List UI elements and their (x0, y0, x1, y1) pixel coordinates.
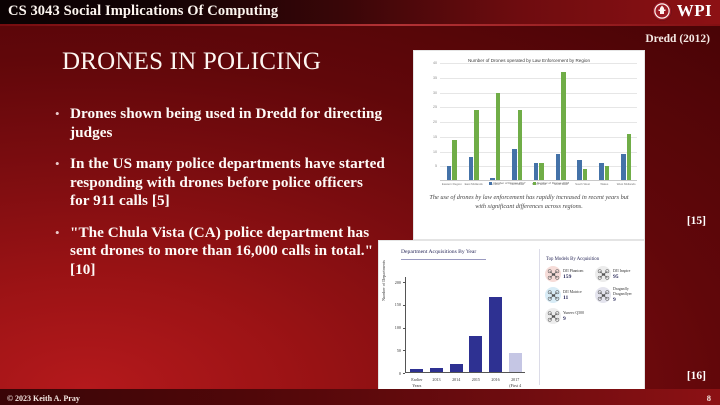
chart1-bar (599, 163, 604, 181)
chart1-bar-group (621, 63, 631, 181)
top-model-count: 9 (613, 297, 645, 303)
chart1-y-tick-label: 40 (417, 61, 437, 65)
chart1-y-tick-label: 20 (417, 120, 437, 124)
bullet-text: "The Chula Vista (CA) police department … (70, 224, 385, 280)
chart2-y-axis (405, 277, 406, 373)
top-model-item: DJI Inspire95 (595, 266, 645, 282)
bullet-text: In the US many police departments have s… (70, 155, 385, 211)
chart2-bar (469, 336, 482, 372)
top-model-text: Yuneec Q5009 (563, 311, 584, 322)
top-model-count: 11 (563, 295, 582, 301)
top-model-count: 9 (563, 316, 584, 322)
top-model-text: DJI Phantom159 (563, 269, 583, 280)
course-title: CS 3043 Social Implications Of Computing (8, 3, 278, 20)
chart1-bar-group (577, 63, 587, 181)
bullet-marker-icon: • (55, 155, 62, 211)
chart2-side-panel: Top Models By Acquisition DJI Phantom159… (542, 241, 644, 393)
copyright-text: © 2023 Keith A. Pray (7, 394, 80, 403)
chart1-bar (577, 160, 582, 181)
reference-marker-15: [15] (687, 215, 706, 227)
legend-label: Number of Drones 2017 (493, 181, 525, 185)
top-model-name: Yuneec Q500 (563, 311, 584, 316)
chart1-bar-group (447, 63, 457, 181)
chart1-bar-group (599, 63, 609, 181)
drone-icon (545, 266, 561, 282)
footer-bar (0, 389, 720, 405)
chart2-y-tick-label: 100 (387, 325, 401, 330)
chart1-bar-group (469, 63, 479, 181)
top-model-text: Draganfly Draganflyer9 (613, 287, 645, 303)
chart1-plot: Eastern RegionEast MidlandsLondonNorth E… (414, 63, 644, 181)
chart1-bar (512, 149, 517, 181)
chart2-bars (407, 281, 525, 372)
banner-underline (0, 24, 720, 26)
chart1-bar (627, 134, 632, 181)
chart1-bar (518, 110, 523, 181)
chart1-bar (556, 154, 561, 181)
wpi-seal-icon (652, 1, 672, 21)
bullet-marker-icon: • (55, 224, 62, 280)
top-model-text: DJI Matrice11 (563, 290, 582, 301)
bullet-marker-icon: • (55, 105, 62, 142)
chart2-y-tick-label: 0 (387, 371, 401, 376)
chart1-bar (561, 72, 566, 181)
chart1-bar (452, 140, 457, 181)
chart2-y-tick (403, 328, 405, 329)
top-model-name: DJI Matrice (563, 290, 582, 295)
chart2-bar (430, 368, 443, 372)
drone-icon (595, 266, 611, 282)
drone-icon (545, 308, 561, 324)
chart1-bar-group (512, 63, 522, 181)
chart2-y-tick (403, 350, 405, 351)
chart2-y-axis-label: Number of Departments (381, 260, 386, 301)
legend-swatch (533, 182, 536, 185)
drone-icon (545, 287, 561, 303)
list-item: • Drones shown being used in Dredd for d… (55, 105, 385, 142)
chart1-caption: The use of drones by law enforcement has… (424, 193, 634, 211)
list-item: • "The Chula Vista (CA) police departmen… (55, 224, 385, 280)
chart1-bar (605, 166, 610, 181)
chart2-y-tick-label: 150 (387, 302, 401, 307)
chart2-bar (450, 364, 463, 372)
chart1-y-tick-label: 35 (417, 76, 437, 80)
bullet-text: Drones shown being used in Dredd for dir… (70, 105, 385, 142)
drone-icon (595, 287, 611, 303)
chart1-bar-group (556, 63, 566, 181)
top-model-count: 95 (613, 274, 630, 280)
chart2-y-tick-label: 200 (387, 280, 401, 285)
chart1-bar (447, 166, 452, 181)
top-models-list: DJI Phantom159DJI Inspire95DJI Matrice11… (542, 262, 645, 329)
wpi-logo: WPI (652, 1, 712, 21)
chart2-y-tick-label: 50 (387, 348, 401, 353)
chart-card-drones-by-region: Number of Drones operated by Law Enforce… (413, 50, 645, 240)
list-item: • In the US many police departments have… (55, 155, 385, 211)
chart1-y-tick-label: 5 (417, 164, 437, 168)
chart1-legend-item: Number of Drones 2017 (489, 181, 526, 185)
chart2-bar (489, 297, 502, 372)
chart2-left-panel: Department Acquisitions By Year Number o… (379, 241, 539, 393)
chart1-bar (621, 154, 626, 181)
chart2-x-axis (405, 372, 525, 373)
top-model-item: Yuneec Q5009 (545, 308, 595, 324)
top-model-count: 159 (563, 274, 583, 280)
chart-card-department-acquisitions: Department Acquisitions By Year Number o… (378, 240, 645, 394)
source-label: Dredd (2012) (645, 33, 710, 45)
chart2-bar (509, 353, 522, 372)
chart1-bar (474, 110, 479, 181)
wpi-logo-text: WPI (677, 1, 712, 21)
chart1-bar-group (490, 63, 500, 181)
chart2-title: Department Acquisitions By Year (379, 241, 539, 255)
page-number: 8 (707, 393, 711, 403)
top-model-name: DJI Phantom (563, 269, 583, 274)
chart2-plot: Number of Departments 200150100500 Earli… (379, 277, 539, 377)
chart1-bar (496, 93, 501, 182)
top-models-title: Top Models By Acquisition (542, 241, 644, 262)
top-model-name: DJI Inspire (613, 269, 630, 274)
chart1-bar (539, 163, 544, 181)
chart1-bars (441, 63, 637, 181)
chart1-y-tick-label: 10 (417, 150, 437, 154)
bullet-list: • Drones shown being used in Dredd for d… (55, 105, 385, 292)
chart1-y-tick-label: 30 (417, 91, 437, 95)
chart2-title-rule (401, 259, 486, 260)
top-model-item: DJI Phantom159 (545, 266, 595, 282)
chart1-bar (469, 157, 474, 181)
chart1-legend-item: Number of Drones 2018 (533, 181, 570, 185)
chart2-bar (410, 369, 423, 372)
chart1-legend: Number of Drones 2017Number of Drones 20… (414, 181, 644, 185)
slide-root: CS 3043 Social Implications Of Computing… (0, 0, 720, 405)
top-model-text: DJI Inspire95 (613, 269, 630, 280)
page-title: DRONES IN POLICING (62, 48, 321, 76)
chart1-bar-group (534, 63, 544, 181)
legend-label: Number of Drones 2018 (537, 181, 569, 185)
top-model-item: DJI Matrice11 (545, 287, 595, 303)
chart2-divider (539, 249, 540, 385)
chart1-title: Number of Drones operated by Law Enforce… (414, 51, 644, 63)
chart2-y-tick (403, 282, 405, 283)
chart1-bar (534, 163, 539, 181)
chart1-y-tick-label: 25 (417, 105, 437, 109)
chart1-y-tick-label: 15 (417, 135, 437, 139)
top-model-name: Draganfly Draganflyer (613, 287, 645, 297)
chart2-y-tick (403, 305, 405, 306)
legend-swatch (489, 182, 492, 185)
top-model-item: Draganfly Draganflyer9 (595, 287, 645, 303)
reference-marker-16: [16] (687, 370, 706, 382)
chart2-y-tick (403, 373, 405, 374)
